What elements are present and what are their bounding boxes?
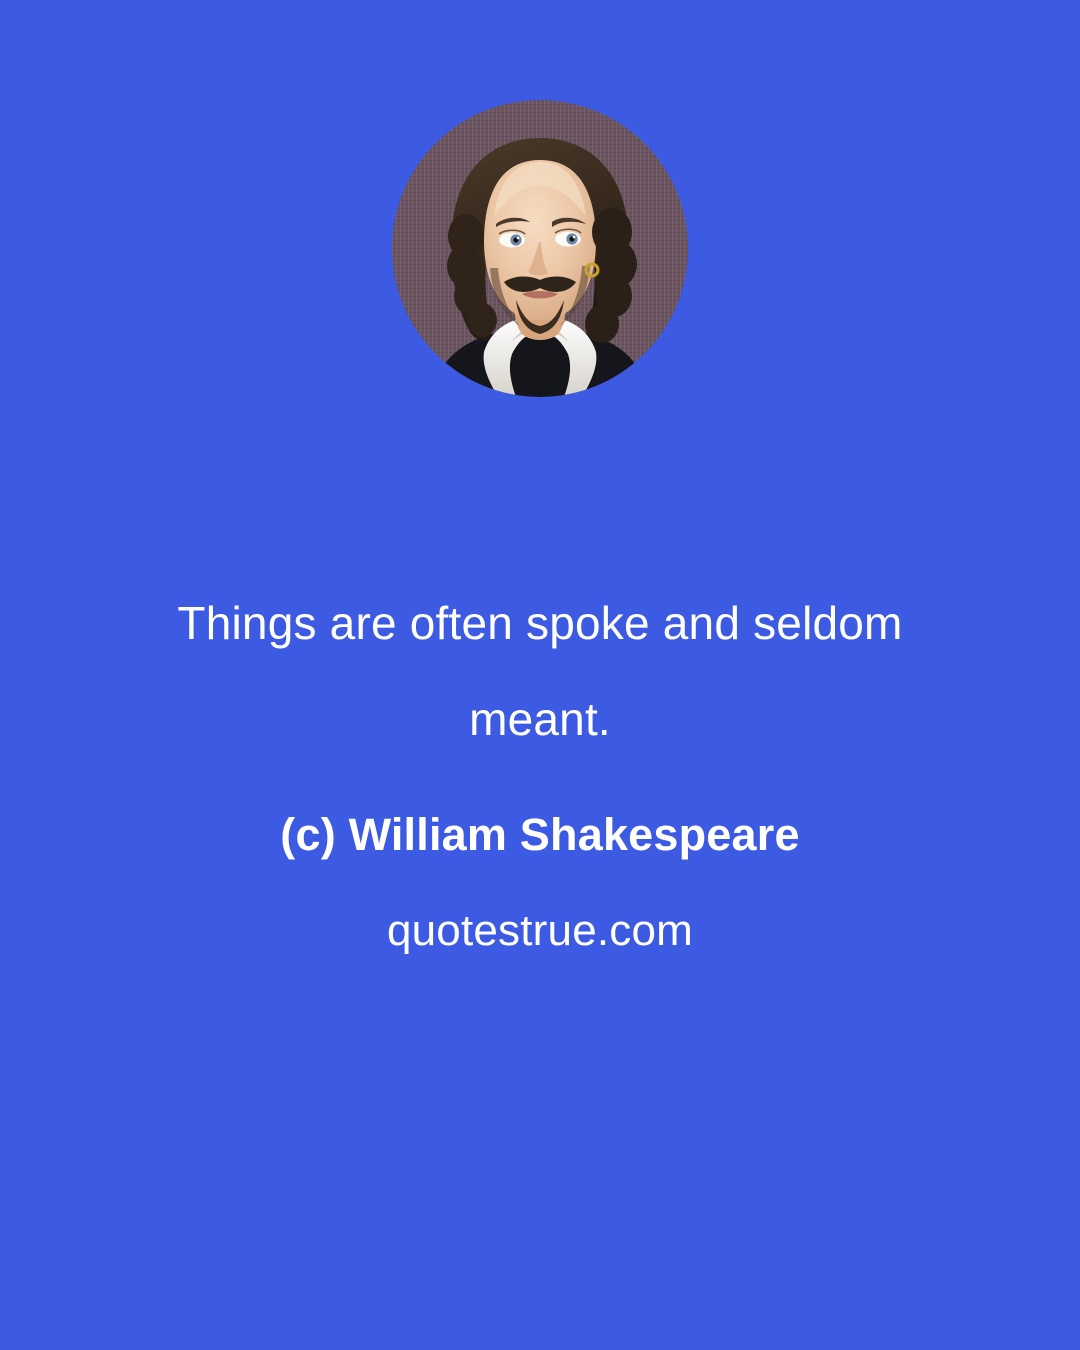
shakespeare-portrait-icon <box>392 100 688 397</box>
site-watermark: quotestrue.com <box>0 901 1080 961</box>
quote-attribution: (c) William Shakespeare <box>0 805 1080 865</box>
quote-line-1: Things are often spoke and seldom <box>100 575 980 671</box>
quote-line-2: meant. <box>100 671 980 767</box>
quote-card: Things are often spoke and seldom meant.… <box>0 0 1080 1350</box>
author-portrait <box>392 100 688 397</box>
quote-text-block: Things are often spoke and seldom meant.… <box>0 575 1080 961</box>
